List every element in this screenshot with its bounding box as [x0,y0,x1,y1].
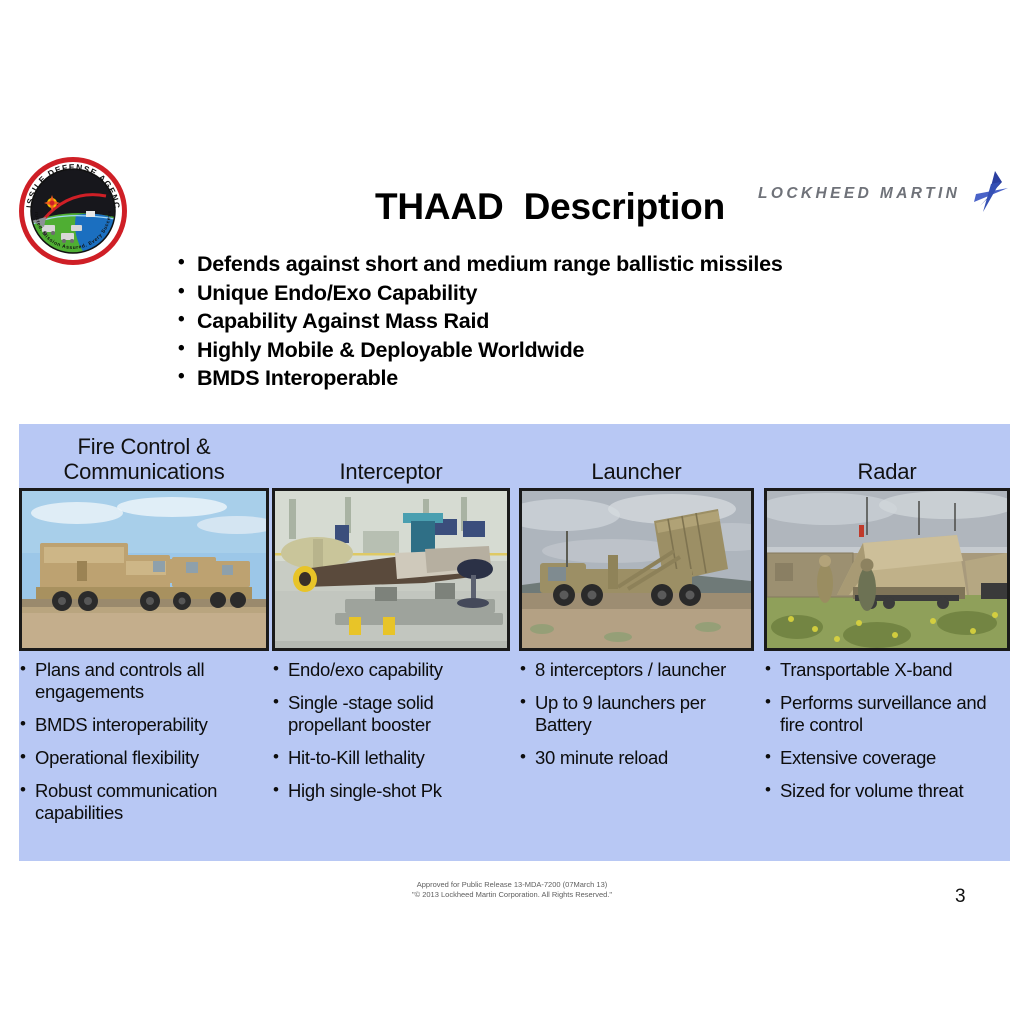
capability-bullet: Highly Mobile & Deployable Worldwide [176,336,976,365]
column-bullet-list: Transportable X-band Performs surveillan… [764,659,1010,813]
column-bullet-list: 8 interceptors / launcher Up to 9 launch… [519,659,754,780]
column-bullet-list: Plans and controls all engagements BMDS … [19,659,269,835]
column-bullet: Endo/exo capability [272,659,506,681]
column-heading: Launcher [519,424,754,484]
release-statement: Approved for Public Release 13-MDA-7200 … [0,880,1024,900]
column-heading: Radar [764,424,1010,484]
lockheed-star-icon [974,171,1008,212]
column-bullet: Up to 9 launchers per Battery [519,692,750,736]
column-heading-line1: Launcher [519,459,754,484]
slide-canvas: MISSILE DEFENSE AGENCY Trusted. Mission … [0,0,1024,1024]
column-bullet: Extensive coverage [764,747,1006,769]
column-fire-control-and-communications: Fire Control & Communications [19,424,269,484]
photo-launcher-vehicle [519,488,754,651]
column-bullet: Performs surveillance and fire control [764,692,1006,736]
column-bullet: Plans and controls all engagements [19,659,265,703]
capability-bullet: Capability Against Mass Raid [176,307,976,336]
column-bullet: 30 minute reload [519,747,750,769]
column-bullet: Transportable X-band [764,659,1006,681]
photo-interceptor-assembly [272,488,510,651]
photo-radar-an-tpy-2 [764,488,1010,651]
column-interceptor: Interceptor [272,424,510,484]
components-panel: Fire Control & Communications [19,424,1010,861]
column-bullet: 8 interceptors / launcher [519,659,750,681]
column-bullet: Hit-to-Kill lethality [272,747,506,769]
column-bullet: Sized for volume threat [764,780,1006,802]
release-line-2: "© 2013 Lockheed Martin Corporation. All… [0,890,1024,900]
column-bullet: High single-shot Pk [272,780,506,802]
column-launcher: Launcher [519,424,754,484]
column-heading: Fire Control & Communications [19,424,269,484]
capability-bullet: Defends against short and medium range b… [176,250,976,279]
column-heading-line2: Communications [19,459,269,484]
page-title: THAAD Description [240,186,860,228]
missile-defense-agency-seal: MISSILE DEFENSE AGENCY Trusted. Mission … [14,155,132,267]
column-bullet-list: Endo/exo capability Single -stage solid … [272,659,510,813]
column-radar: Radar [764,424,1010,484]
column-bullet: Single -stage solid propellant booster [272,692,506,736]
capability-bullet: BMDS Interoperable [176,364,976,393]
column-heading-line1: Radar [764,459,1010,484]
column-bullet: Operational flexibility [19,747,265,769]
column-heading: Interceptor [272,424,510,484]
capability-bullet: Unique Endo/Exo Capability [176,279,976,308]
photo-fire-control-trucks [19,488,269,651]
column-bullet: Robust communication capabilities [19,780,265,824]
column-bullet: BMDS interoperability [19,714,265,736]
release-line-1: Approved for Public Release 13-MDA-7200 … [0,880,1024,890]
column-heading-line1: Fire Control & [19,434,269,459]
key-capabilities-list: Defends against short and medium range b… [176,250,976,393]
column-heading-line1: Interceptor [272,459,510,484]
page-number: 3 [955,886,966,908]
